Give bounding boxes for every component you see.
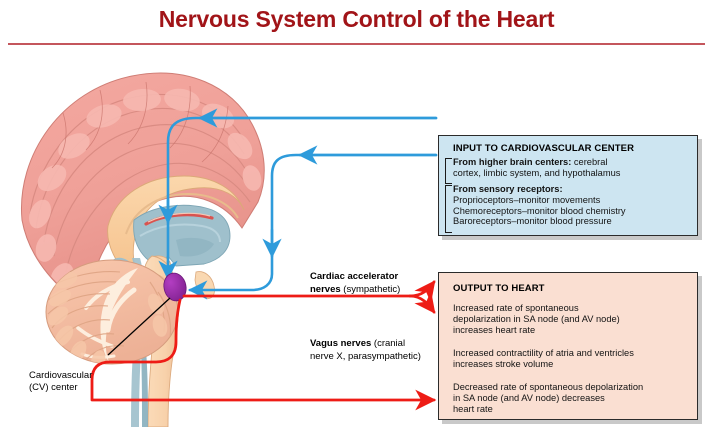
vagus-nerves-label: Vagus nerves (cranial nerve X, parasympa… <box>310 338 421 363</box>
output-item-3: Decreased rate of spontaneous depolariza… <box>453 382 697 414</box>
input-group-2-text: From sensory receptors: Proprioceptors–m… <box>453 184 693 227</box>
figure-area: INPUT TO CARDIOVASCULAR CENTER From high… <box>0 50 713 427</box>
output-item-1-line-1: Increased rate of spontaneous <box>453 303 579 313</box>
cardiac-accelerator-label-line1: Cardiac accelerator <box>310 271 398 282</box>
cv-center-label-line-1: Cardiovascular <box>29 370 92 381</box>
input-box-heading: INPUT TO CARDIOVASCULAR CENTER <box>453 143 634 154</box>
output-item-2-line-1: Increased contractility of atria and ven… <box>453 348 634 358</box>
input-group-1-text: From higher brain centers: cerebral cort… <box>453 157 693 179</box>
cardiac-accelerator-label-line2: nerves <box>310 284 341 295</box>
title-divider <box>8 43 705 45</box>
input-to-cardiovascular-center-box: INPUT TO CARDIOVASCULAR CENTER From high… <box>438 135 698 236</box>
output-item-2-line-2: increases stroke volume <box>453 359 553 369</box>
output-to-heart-box: OUTPUT TO HEART Increased rate of sponta… <box>438 272 698 420</box>
input-group-2-lead: From sensory receptors: <box>453 184 563 194</box>
output-item-3-line-3: heart rate <box>453 404 493 414</box>
input-group-1-line-2: cortex, limbic system, and hypothalamus <box>453 168 620 178</box>
vagus-label-bold: Vagus nerves <box>310 338 371 349</box>
vagus-label-qualifier-1: (cranial <box>371 338 405 349</box>
output-box-heading: OUTPUT TO HEART <box>453 283 545 294</box>
input-group-1-line-1: cerebral <box>571 157 607 167</box>
input-group-2-line-3: Baroreceptors–monitor blood pressure <box>453 216 612 226</box>
title-bar: Nervous System Control of the Heart <box>0 0 713 50</box>
output-item-1-line-3: increases heart rate <box>453 325 535 335</box>
cv-center-label-line-2: (CV) center <box>29 382 78 393</box>
output-item-1-line-2: depolarization in SA node (and AV node) <box>453 314 620 324</box>
input-group-2-line-1: Proprioceptors–monitor movements <box>453 195 600 205</box>
cardiac-accelerator-nerves-label: Cardiac accelerator nerves (sympathetic) <box>310 271 400 296</box>
output-item-1: Increased rate of spontaneous depolariza… <box>453 303 691 335</box>
page-title: Nervous System Control of the Heart <box>0 6 713 33</box>
vagus-label-qualifier-2: nerve X, parasympathetic) <box>310 351 421 362</box>
input-group-2-line-2: Chemoreceptors–monitor blood chemistry <box>453 206 626 216</box>
output-item-3-line-1: Decreased rate of spontaneous depolariza… <box>453 382 643 392</box>
input-group-1-lead: From higher brain centers: <box>453 157 571 167</box>
output-item-3-line-2: in SA node (and AV node) decreases <box>453 393 605 403</box>
input-group-2-bracket <box>445 185 452 233</box>
cardiovascular-center-label: Cardiovascular (CV) center <box>29 370 92 394</box>
output-item-2: Increased contractility of atria and ven… <box>453 348 697 370</box>
cardiac-accelerator-label-qualifier: (sympathetic) <box>341 284 401 295</box>
thalamus <box>134 205 230 266</box>
input-group-1-bracket <box>445 158 452 184</box>
